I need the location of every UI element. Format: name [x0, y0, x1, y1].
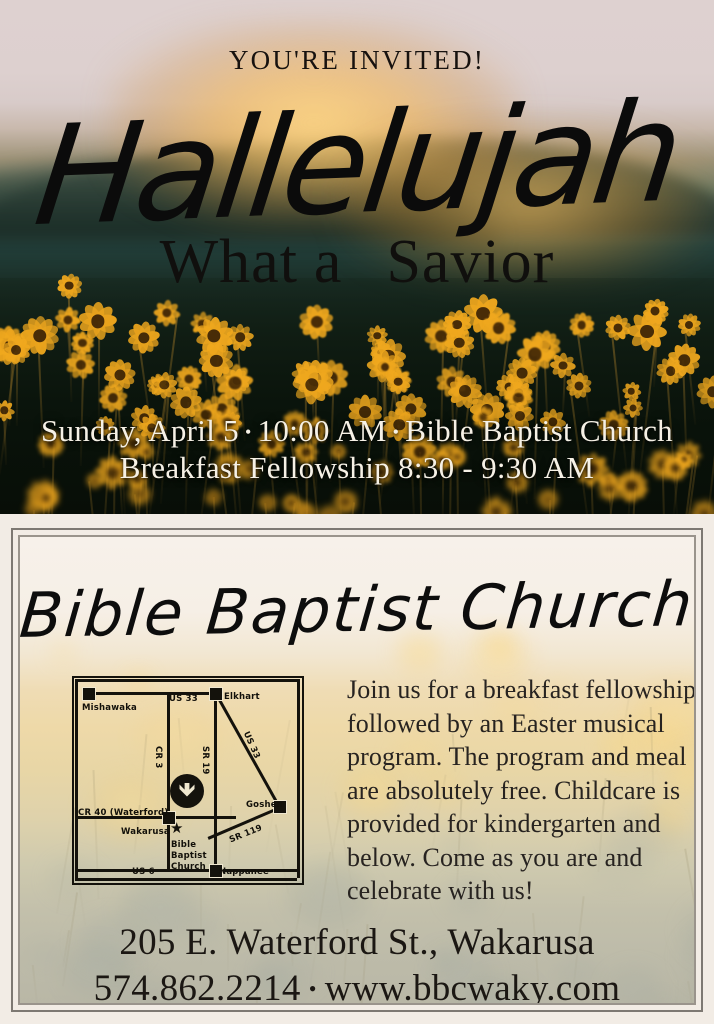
map-city-wakarusa: Wakarusa [121, 827, 170, 837]
wildflower [564, 371, 594, 401]
event-details-line-2: Breakfast Fellowship 8:30 - 9:30 AM [0, 449, 714, 487]
subtitle-word-a: a [314, 228, 343, 296]
map-road-segment [75, 679, 297, 682]
flower-center [64, 315, 73, 324]
flower-center [558, 361, 567, 370]
page-title-hallelujah: Hallelujah [0, 82, 714, 247]
map-road-segment [297, 679, 300, 878]
hero-photo-panel: YOU'RE INVITED! Hallelujah WhataSavior S… [0, 0, 714, 514]
flower-center [577, 321, 586, 330]
church-logo-arrow-icon [170, 774, 204, 808]
wildflower [258, 492, 279, 513]
map-road-segment [75, 679, 78, 878]
church-name-script: Bible Baptist Church [18, 573, 696, 647]
flower-center [394, 377, 403, 386]
wildflower [654, 355, 687, 388]
map-node-mishawaka [82, 687, 96, 701]
flower-center [114, 370, 125, 381]
flower-center [629, 405, 636, 412]
flower-center [493, 322, 505, 334]
map-label-church: Church [171, 862, 206, 872]
eyebrow-youre-invited: YOU'RE INVITED! [0, 45, 714, 76]
map-city-goshen: Goshen [246, 800, 283, 810]
wildflower [536, 488, 560, 512]
flower-center [211, 494, 217, 500]
subtitle-word-what: What [160, 228, 298, 296]
event-venue: Bible Baptist Church [405, 413, 673, 448]
wildflower [289, 362, 334, 407]
flower-center [628, 388, 635, 395]
flower-center [459, 385, 471, 397]
wildflower [297, 302, 337, 342]
invitation-blurb: Join us for a breakfast fellowship follo… [347, 673, 696, 908]
map-church-star-marker: ★ [170, 822, 183, 837]
map-city-nappanee: Nappanee [219, 867, 269, 877]
bullet-separator-2: • [387, 422, 406, 442]
flower-center [228, 376, 241, 389]
flower-center [454, 338, 465, 349]
wildflower [479, 308, 519, 348]
flower-center [491, 506, 502, 514]
church-address: 205 E. Waterford St., Wakarusa [20, 922, 694, 965]
map-road-cr40-waterford: CR 40 (Waterford) [78, 808, 168, 818]
wildflower [0, 334, 33, 367]
map-city-elkhart: Elkhart [224, 692, 260, 702]
info-panel: Bible Baptist Church ★ Bible Baptist [0, 514, 714, 1024]
flower-center [640, 325, 654, 339]
map-road-segment [75, 878, 297, 881]
map-node-elkhart [209, 687, 223, 701]
flyer-root: YOU'RE INVITED! Hallelujah WhataSavior S… [0, 0, 714, 1024]
map-road-segment [87, 692, 218, 695]
wildflower [624, 308, 670, 354]
flower-center [613, 323, 622, 332]
flower-center [11, 345, 21, 355]
event-time: 10:00 AM [258, 413, 387, 448]
location-map: ★ Bible Baptist Church Mishawaka Elkhart… [64, 670, 309, 890]
church-contact: 574.862.2214•www.bbcwaky.com [20, 968, 694, 1005]
wildflower [676, 312, 703, 339]
event-details-line-1: Sunday, April 5•10:00 AM•Bible Baptist C… [0, 413, 714, 449]
phone-number[interactable]: 574.862.2214 [94, 968, 301, 1005]
flower-center [666, 366, 676, 376]
bullet-separator-3: • [301, 976, 325, 1001]
wildflower [567, 311, 596, 340]
event-details: Sunday, April 5•10:00 AM•Bible Baptist C… [0, 413, 714, 487]
bullet-separator-1: • [239, 422, 258, 442]
wildflower [24, 501, 41, 514]
subtitle-what-a-savior: WhataSavior [0, 231, 714, 293]
event-date: Sunday, April 5 [41, 413, 239, 448]
wildflower [125, 319, 162, 356]
flower-center [707, 386, 714, 398]
map-label-baptist: Baptist [171, 851, 207, 861]
flower-center [685, 321, 693, 329]
frame-outer-border: Bible Baptist Church ★ Bible Baptist [11, 528, 703, 1012]
flower-center [574, 381, 583, 390]
map-road-cr3: CR 3 [153, 746, 163, 768]
flower-center [42, 494, 50, 502]
flower-center [108, 393, 118, 403]
flower-center [33, 329, 47, 343]
map-road-us33-top: US 33 [169, 694, 198, 704]
map-road-us6: US 6 [132, 867, 155, 877]
map-road-sr19: SR 19 [200, 746, 210, 774]
wildflower [64, 348, 98, 382]
map-road-segment [214, 692, 217, 869]
flower-center [341, 497, 350, 506]
wildflower [204, 487, 224, 507]
website-url[interactable]: www.bbcwaky.com [325, 968, 621, 1005]
flower-center [235, 333, 245, 343]
map-label-bible: Bible [171, 840, 196, 850]
subtitle-word-savior: Savior [386, 228, 554, 296]
frame-inner-border: Bible Baptist Church ★ Bible Baptist [18, 535, 696, 1005]
map-city-mishawaka: Mishawaka [82, 703, 137, 713]
